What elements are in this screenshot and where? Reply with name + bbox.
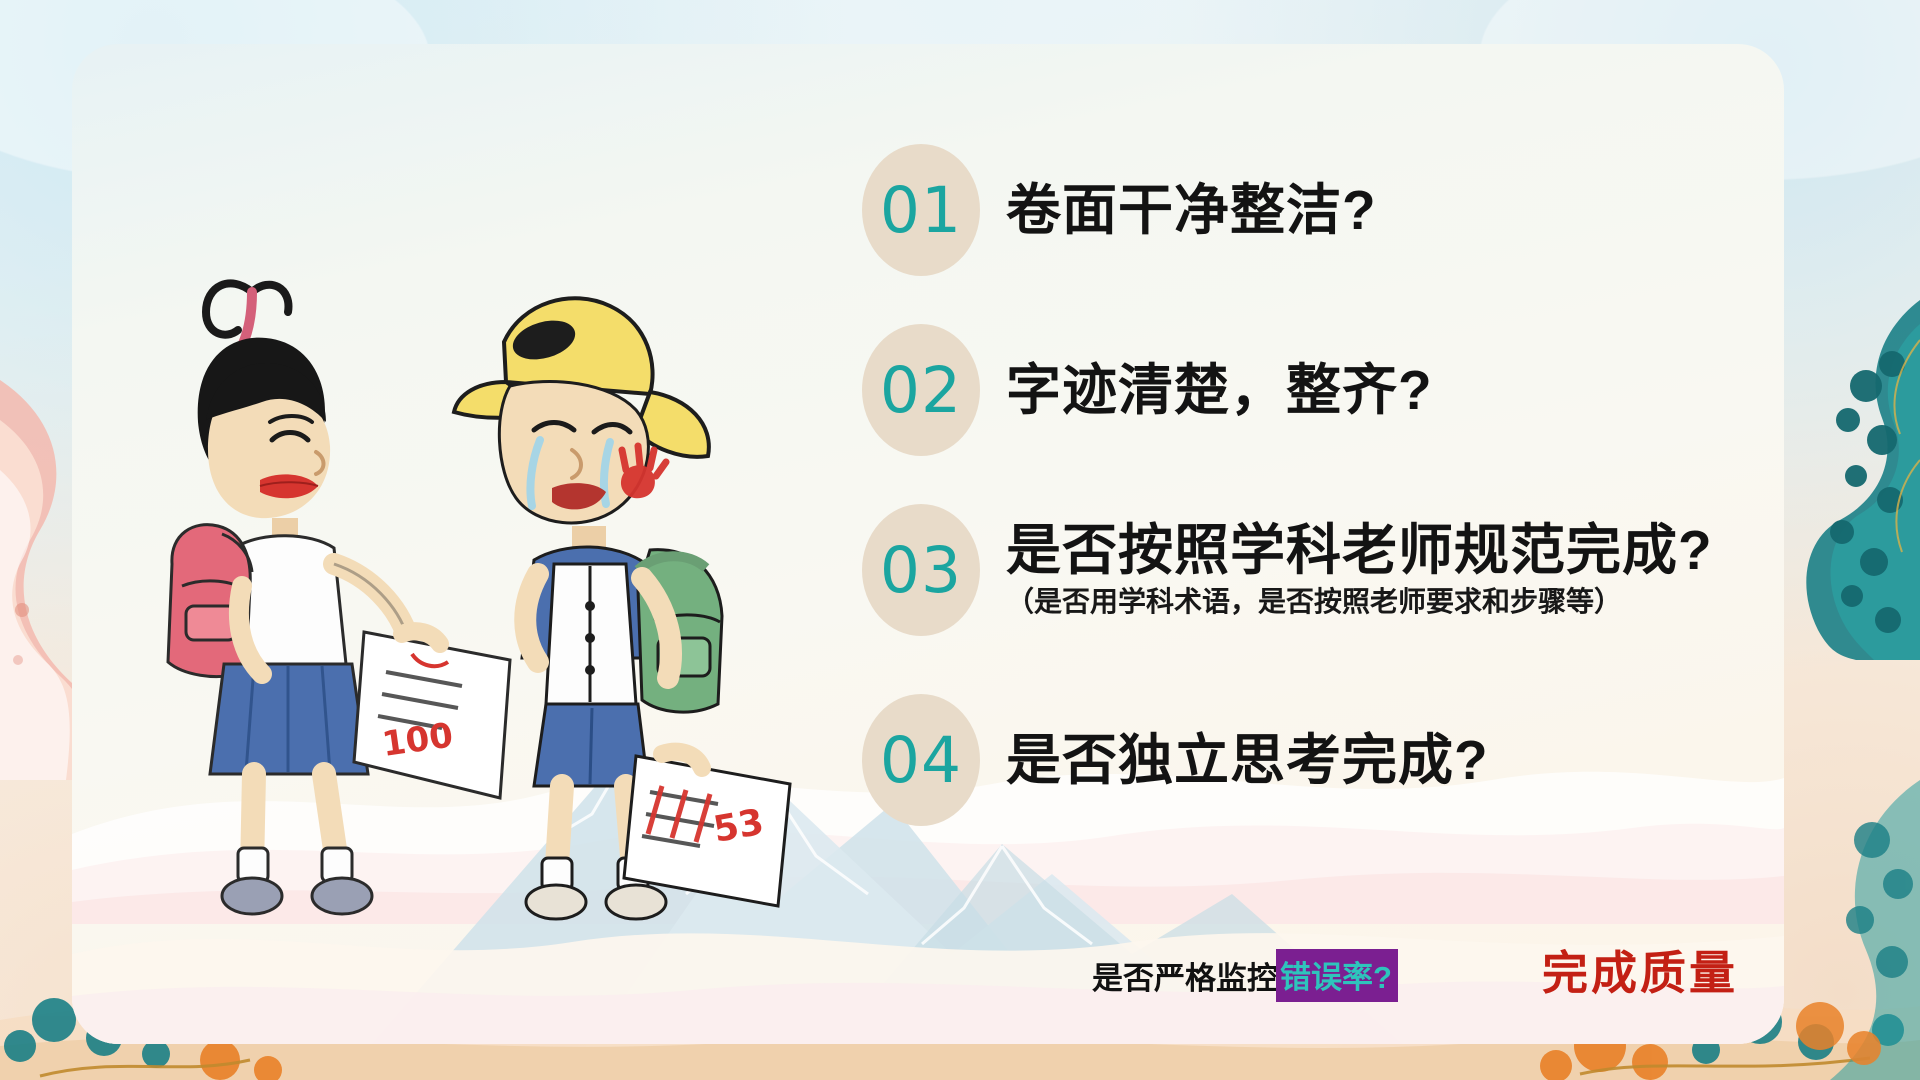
item-title-02: 字迹清楚，整齐? — [1006, 361, 1433, 419]
item-number-bubble-03: 03 — [862, 504, 980, 636]
checklist-item-01[interactable]: 01 卷面干净整洁? — [862, 144, 1377, 276]
item-number-03: 03 — [880, 534, 962, 607]
item-subtitle-03: （是否用学科术语，是否按照老师要求和步骤等） — [1006, 584, 1626, 619]
boy-score-text: 53 — [710, 802, 766, 851]
item-title-03: 是否按照学科老师规范完成? — [1006, 521, 1713, 579]
girl-figure: 100 — [168, 283, 510, 914]
item-title-01: 卷面干净整洁? — [1006, 181, 1377, 239]
checklist-item-03[interactable]: 03 是否按照学科老师规范完成? （是否用学科术语，是否按照老师要求和步骤等） — [862, 504, 1713, 636]
bottom-caption: 是否严格监控 错误率? — [1092, 949, 1398, 1002]
caption-highlight-text: 错误率? — [1276, 949, 1398, 1002]
item-number-bubble-01: 01 — [862, 144, 980, 276]
boy-exam-paper: 53 — [624, 756, 790, 906]
item-text-04: 是否独立思考完成? — [1006, 731, 1489, 789]
item-number-01: 01 — [880, 174, 962, 247]
content-card: 100 — [72, 44, 1784, 1044]
boy-figure: 53 — [454, 298, 790, 919]
girl-exam-paper: 100 — [354, 632, 510, 798]
checklist-item-04[interactable]: 04 是否独立思考完成? — [862, 694, 1489, 826]
caption-prefix-text: 是否严格监控 — [1092, 953, 1278, 998]
item-number-04: 04 — [880, 724, 962, 797]
cartoon-students-illustration: 100 — [102, 234, 802, 934]
checklist-item-02[interactable]: 02 字迹清楚，整齐? — [862, 324, 1433, 456]
item-number-bubble-04: 04 — [862, 694, 980, 826]
item-text-03: 是否按照学科老师规范完成? （是否用学科术语，是否按照老师要求和步骤等） — [1006, 521, 1713, 619]
item-number-bubble-02: 02 — [862, 324, 980, 456]
pine-branch-right-decoration — [1770, 300, 1920, 660]
item-text-01: 卷面干净整洁? — [1006, 181, 1377, 239]
item-title-04: 是否独立思考完成? — [1006, 731, 1489, 789]
quality-label: 完成质量 — [1542, 937, 1738, 1003]
item-text-02: 字迹清楚，整齐? — [1006, 361, 1433, 419]
item-number-02: 02 — [880, 354, 962, 427]
